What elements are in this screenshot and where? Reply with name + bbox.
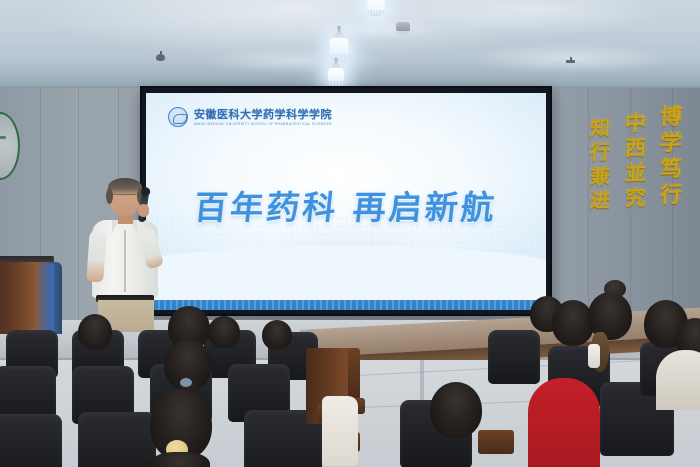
org-name-cn: 安徽医科大学药学科学学院 [194, 109, 332, 121]
calligraphy-column-middle: 中 西 並 究 [625, 112, 646, 208]
presenter-hand [138, 204, 149, 217]
auditorium-seat [78, 412, 156, 467]
calligraphy-char: 知 [589, 118, 610, 139]
calligraphy-column-right: 博 学 笃 行 [660, 106, 682, 206]
calligraphy-char: 学 [659, 132, 682, 155]
calligraphy-char: 行 [659, 184, 682, 207]
calligraphy-char: 行 [589, 142, 610, 163]
calligraphy-column-left: 知 行 兼 进 [590, 118, 610, 210]
calligraphy-char: 究 [624, 187, 646, 209]
presenter-glasses-icon [113, 194, 137, 200]
audience-torso [528, 378, 600, 467]
slide-title: 百年药科 再启新航 [146, 181, 546, 229]
calligraphy-char: 並 [624, 162, 646, 184]
ceiling [0, 0, 700, 92]
audience-torso [656, 350, 700, 410]
presenter-left-arm [86, 229, 107, 282]
audience-head [78, 314, 112, 350]
audience-head [150, 452, 210, 467]
ceiling-speaker-icon [156, 54, 165, 61]
presenter-hair-side-left [106, 188, 113, 204]
presenter-shirt-placket [124, 230, 126, 292]
lecture-hall-photo: 博 学 笃 行 中 西 並 究 知 行 兼 进 安徽医科大学药学科学学院 [0, 0, 700, 467]
auditorium-seat [488, 330, 540, 384]
audience-head [208, 316, 240, 348]
calligraphy-char: 进 [589, 190, 610, 211]
calligraphy-char: 博 [659, 106, 682, 129]
white-bag-on-seat [322, 396, 358, 466]
slide-org-logo: 安徽医科大学药学科学学院 ANHUI MEDICAL UNIVERSITY SC… [168, 107, 332, 127]
hair-clip-icon [180, 378, 192, 387]
projection-screen-frame: 安徽医科大学药学科学学院 ANHUI MEDICAL UNIVERSITY SC… [142, 88, 550, 314]
sprinkler-icon [566, 60, 575, 63]
university-seal-icon [168, 107, 188, 127]
slide-bottom-arc [146, 246, 546, 300]
projection-screen: 安徽医科大学药学科学学院 ANHUI MEDICAL UNIVERSITY SC… [146, 93, 546, 310]
org-name-en: ANHUI MEDICAL UNIVERSITY SCHOOL OF PHARM… [194, 121, 332, 126]
calligraphy-char: 兼 [589, 166, 610, 187]
presenter [84, 180, 164, 330]
hair-clip-icon [588, 344, 600, 368]
calligraphy-char: 笃 [659, 158, 682, 181]
auditorium-seat [0, 414, 62, 467]
calligraphy-char: 中 [624, 112, 646, 134]
lectern-screen-glow [34, 264, 54, 334]
audience-head [430, 382, 482, 438]
audience-head [262, 320, 292, 350]
calligraphy-char: 西 [624, 137, 646, 159]
smoke-detector-icon [396, 22, 410, 32]
audience-head [588, 292, 632, 340]
seat-armrest [478, 430, 514, 454]
